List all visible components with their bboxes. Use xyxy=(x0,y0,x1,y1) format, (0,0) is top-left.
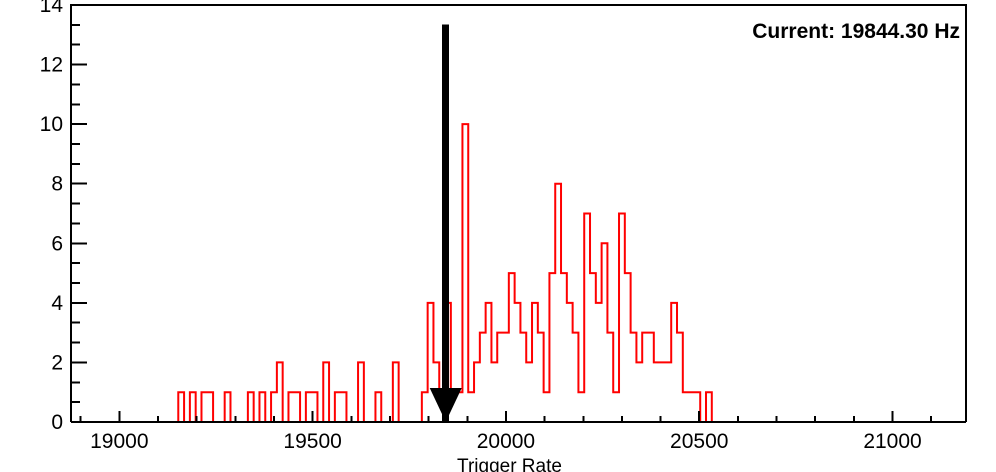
y-tick-label: 2 xyxy=(51,351,63,374)
x-tick-label: 20000 xyxy=(477,430,535,453)
plot-area: 1900019500200002050021000Trigger Rate024… xyxy=(0,0,996,472)
y-tick-label: 4 xyxy=(51,292,63,315)
x-tick-label: 19000 xyxy=(90,430,148,453)
x-tick-label: 19500 xyxy=(283,430,341,453)
y-tick-label: 10 xyxy=(40,113,63,136)
current-rate-arrow xyxy=(430,388,462,422)
plot-frame xyxy=(71,5,966,422)
y-tick-label: 8 xyxy=(51,173,63,196)
y-tick-label: 6 xyxy=(51,232,63,255)
axis-labels-layer: 1900019500200002050021000Trigger Rate024… xyxy=(40,0,922,472)
axes-layer xyxy=(71,5,966,422)
y-tick-label: 12 xyxy=(40,54,63,77)
y-tick-label: 0 xyxy=(51,411,63,434)
x-tick-label: 21000 xyxy=(863,430,921,453)
current-rate-readout: Current: 19844.30 Hz xyxy=(752,20,960,43)
histogram-canvas: 1900019500200002050021000Trigger Rate024… xyxy=(0,0,996,472)
y-tick-label: 14 xyxy=(40,0,64,17)
x-axis-title: Trigger Rate xyxy=(457,456,562,472)
x-tick-label: 20500 xyxy=(670,430,728,453)
histogram-series xyxy=(71,124,966,422)
